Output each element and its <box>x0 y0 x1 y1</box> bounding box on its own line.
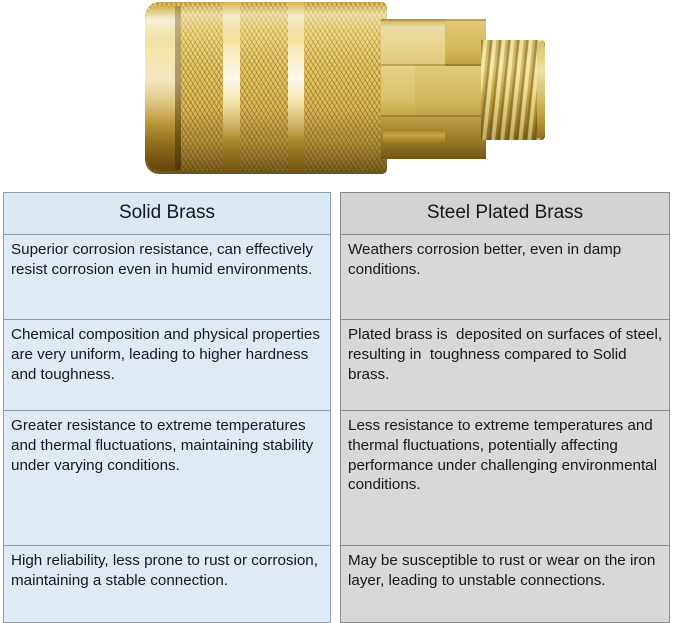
cell-solid-brass-1: Superior corrosion resistance, can effec… <box>4 235 331 320</box>
product-photo <box>0 0 679 186</box>
table-row: Plated brass is deposited on surfaces of… <box>341 320 670 411</box>
steel-plated-brass-table: Steel Plated Brass Weathers corrosion be… <box>340 192 670 623</box>
cell-steel-plated-brass-2: Plated brass is deposited on surfaces of… <box>341 320 670 411</box>
hex-body-slot <box>383 129 445 143</box>
table-row: Chemical composition and physical proper… <box>4 320 331 411</box>
table-row: High reliability, less prone to rust or … <box>4 546 331 623</box>
polished-band-front <box>223 2 240 174</box>
hex-facet-edge-4 <box>381 157 486 159</box>
column-header-solid-brass: Solid Brass <box>4 193 331 235</box>
hex-facet-edge-2 <box>381 64 486 66</box>
table-row: Less resistance to extreme temperatures … <box>341 411 670 546</box>
comparison-tables: Solid Brass Superior corrosion resistanc… <box>0 186 679 622</box>
male-threaded-end <box>481 40 545 140</box>
thread-tip <box>537 42 545 138</box>
hex-body-step-upper <box>445 19 486 66</box>
cell-steel-plated-brass-1: Weathers corrosion better, even in damp … <box>341 235 670 320</box>
brass-coupler-illustration <box>145 2 545 174</box>
cell-solid-brass-4: High reliability, less prone to rust or … <box>4 546 331 623</box>
column-header-steel-plated-brass: Steel Plated Brass <box>341 193 670 235</box>
table-row: Weathers corrosion better, even in damp … <box>341 235 670 320</box>
knurled-sleeve <box>145 2 387 174</box>
hex-facet-edge-1 <box>381 19 486 21</box>
table-header-row: Steel Plated Brass <box>341 193 670 235</box>
cell-solid-brass-2: Chemical composition and physical proper… <box>4 320 331 411</box>
hex-body-step-lower <box>381 64 415 115</box>
front-collar-edge <box>175 6 181 170</box>
cell-solid-brass-3: Greater resistance to extreme temperatur… <box>4 411 331 546</box>
cell-steel-plated-brass-3: Less resistance to extreme temperatures … <box>341 411 670 546</box>
table-header-row: Solid Brass <box>4 193 331 235</box>
product-comparison-page: Solid Brass Superior corrosion resistanc… <box>0 0 679 622</box>
table-row: Greater resistance to extreme temperatur… <box>4 411 331 546</box>
cell-steel-plated-brass-4: May be susceptible to rust or wear on th… <box>341 546 670 623</box>
hex-facet-edge-3 <box>381 115 486 117</box>
table-row: May be susceptible to rust or wear on th… <box>341 546 670 623</box>
polished-band-rear <box>288 2 304 174</box>
table-row: Superior corrosion resistance, can effec… <box>4 235 331 320</box>
solid-brass-table: Solid Brass Superior corrosion resistanc… <box>3 192 331 623</box>
